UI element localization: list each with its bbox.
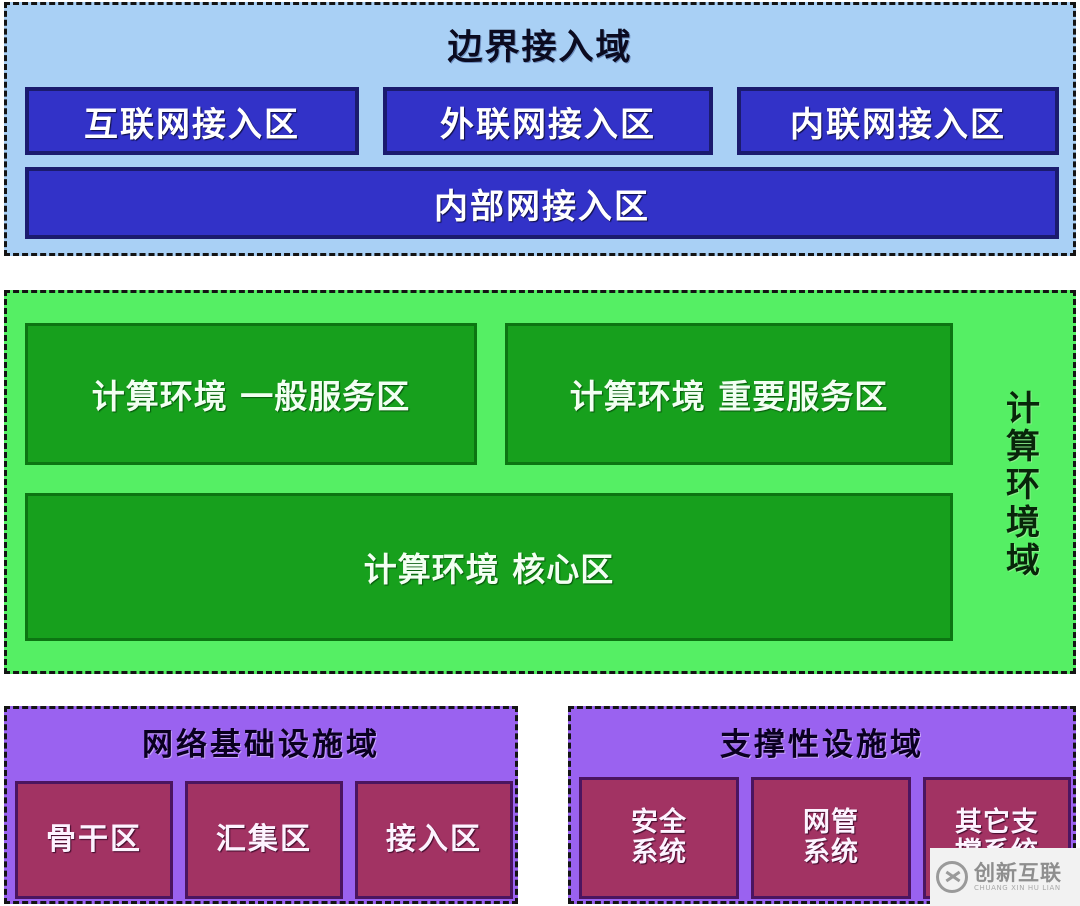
- zone-border-access: 边界接入域 互联网接入区 外联网接入区 内联网接入区 内部网接入区: [4, 2, 1076, 256]
- vertical-char-4: 境: [1006, 504, 1040, 542]
- zone-support-infrastructure-title: 支撑性设施域: [571, 719, 1073, 764]
- box-network-management-system-line2: 系统: [803, 838, 859, 868]
- box-compute-core-area[interactable]: 计算环境 核心区: [25, 493, 953, 641]
- watermark-chinese-text: 创新互联: [974, 862, 1062, 884]
- box-security-system-line1: 安全: [631, 808, 687, 838]
- box-backbone-area[interactable]: 骨干区: [15, 781, 173, 899]
- zone-network-infrastructure-title: 网络基础设施域: [7, 719, 515, 764]
- watermark-text: 创新互联 CHUANG XIN HU LIAN: [974, 862, 1062, 892]
- box-network-management-system-line1: 网管: [803, 808, 859, 838]
- box-internet-access-area[interactable]: 互联网接入区: [25, 87, 359, 155]
- watermark-logo-icon: [936, 861, 968, 893]
- box-intranet-access-area[interactable]: 内联网接入区: [737, 87, 1059, 155]
- watermark: 创新互联 CHUANG XIN HU LIAN: [930, 848, 1080, 906]
- zone-network-infrastructure: 网络基础设施域 骨干区 汇集区 接入区: [4, 706, 518, 904]
- zone-border-access-title: 边界接入域: [7, 19, 1073, 70]
- vertical-char-3: 环: [1006, 466, 1040, 504]
- box-aggregation-area[interactable]: 汇集区: [185, 781, 343, 899]
- box-extranet-access-area[interactable]: 外联网接入区: [383, 87, 713, 155]
- box-other-support-system-line1: 其它支: [955, 808, 1039, 838]
- box-network-management-system[interactable]: 网管 系统: [751, 777, 911, 899]
- watermark-pinyin-text: CHUANG XIN HU LIAN: [974, 884, 1062, 892]
- box-security-system-line2: 系统: [631, 838, 687, 868]
- box-security-system[interactable]: 安全 系统: [579, 777, 739, 899]
- box-compute-general-service-area[interactable]: 计算环境 一般服务区: [25, 323, 477, 465]
- vertical-char-2: 算: [1006, 428, 1040, 466]
- zone-computing-environment: 计算环境 一般服务区 计算环境 重要服务区 计算环境 核心区 计 算 环 境 域: [4, 290, 1076, 674]
- box-internal-network-access-area[interactable]: 内部网接入区: [25, 167, 1059, 239]
- box-compute-important-service-area[interactable]: 计算环境 重要服务区: [505, 323, 953, 465]
- vertical-char-1: 计: [1006, 390, 1040, 428]
- vertical-char-5: 域: [1006, 542, 1040, 580]
- box-network-access-area[interactable]: 接入区: [355, 781, 513, 899]
- zone-computing-environment-title: 计 算 环 境 域: [995, 325, 1051, 645]
